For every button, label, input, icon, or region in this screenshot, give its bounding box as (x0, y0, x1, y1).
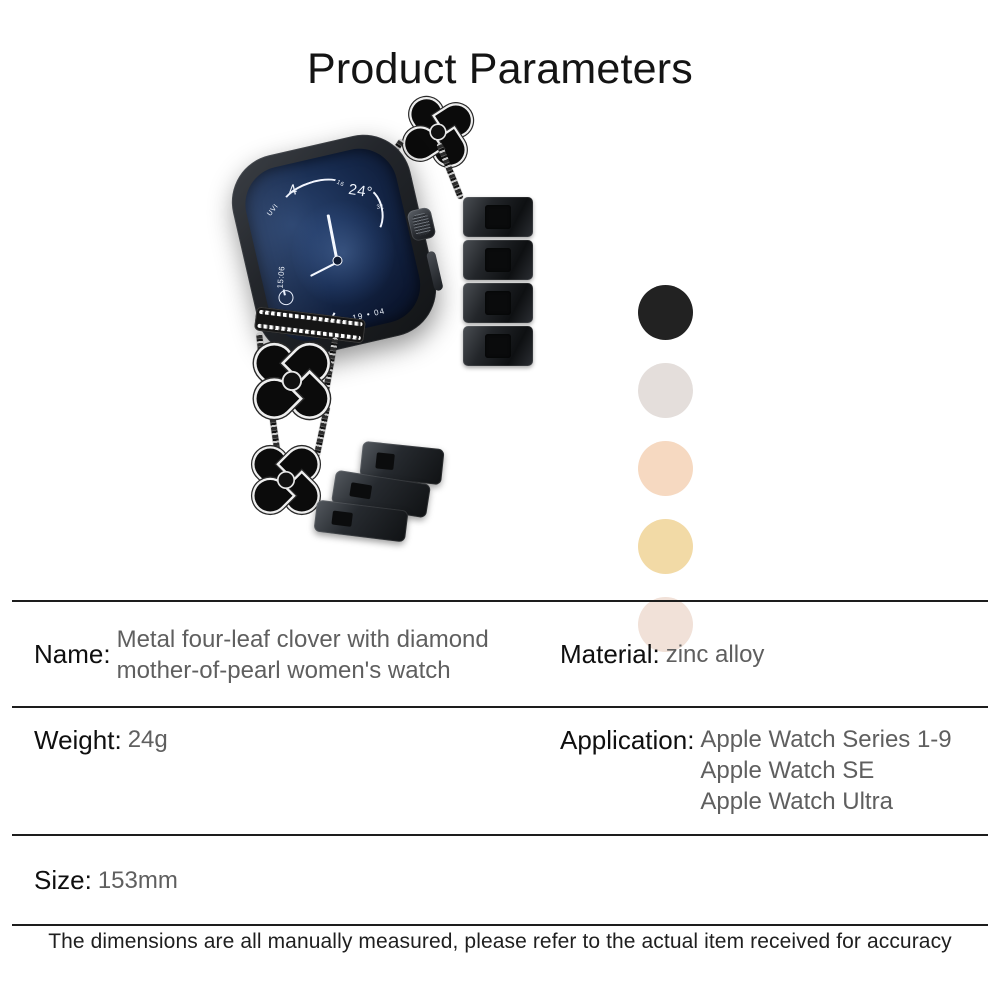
spec-label-material: Material: (560, 638, 660, 671)
temperature-max: 31 (376, 205, 384, 212)
clover-charm-lower (253, 448, 318, 513)
spec-value-line: Apple Watch SE (700, 755, 951, 786)
spec-label-weight: Weight: (34, 724, 122, 757)
spec-value-name: Metal four-leaf clover with diamond moth… (111, 624, 489, 686)
spec-table: Name: Metal four-leaf clover with diamon… (12, 600, 988, 926)
clover-charm-middle (255, 345, 342, 432)
product-hero: 4 UVI 16 24° 31 15:06 375 • 19 • 04 (0, 93, 1000, 563)
digital-crown (406, 207, 436, 243)
spec-cell-size: Size: 153mm (12, 836, 560, 924)
color-swatch-rose-gold[interactable] (638, 441, 693, 496)
temperature-min: 16 (335, 180, 345, 189)
spec-cell-application: Application: Apple Watch Series 1-9 Appl… (560, 708, 988, 834)
spec-label-application: Application: (560, 724, 694, 757)
spec-label-size: Size: (34, 864, 92, 897)
power-icon (277, 289, 295, 307)
bracelet-link (463, 197, 533, 237)
uvi-arc (277, 172, 349, 222)
spec-cell-weight: Weight: 24g (12, 708, 560, 834)
page-title: Product Parameters (0, 0, 1000, 93)
spec-value-size: 153mm (92, 865, 178, 896)
color-swatch-list (638, 285, 693, 652)
watch-time: 15:06 (276, 266, 287, 289)
spec-cell-material: Material: zinc alloy (560, 602, 988, 706)
spec-value-line: Apple Watch Series 1-9 (700, 724, 951, 755)
temperature-value: 24° (347, 181, 374, 202)
measurement-disclaimer: The dimensions are all manually measured… (0, 930, 1000, 954)
spec-value-weight: 24g (122, 724, 168, 755)
hour-hand (327, 215, 339, 263)
spec-value-line: zinc alloy (666, 639, 765, 670)
product-image: 4 UVI 16 24° 31 15:06 375 • 19 • 04 (215, 101, 575, 546)
color-swatch-silver-white[interactable] (638, 363, 693, 418)
table-row: Size: 153mm (12, 836, 988, 924)
bracelet-links (463, 197, 533, 369)
spec-value-line: mother-of-pearl women's watch (117, 655, 489, 686)
color-swatch-gold[interactable] (638, 519, 693, 574)
clover-charm-top (401, 96, 475, 170)
side-button (426, 251, 444, 292)
spec-value-line: 24g (128, 724, 168, 755)
bracelet-link (463, 326, 533, 366)
uvi-label: UVI (266, 203, 280, 218)
bracelet-link (463, 240, 533, 280)
spec-value-application: Apple Watch Series 1-9 Apple Watch SE Ap… (694, 724, 951, 818)
table-row: Weight: 24g Application: Apple Watch Ser… (12, 708, 988, 836)
spec-cell-name: Name: Metal four-leaf clover with diamon… (12, 602, 560, 706)
hands-center-cap (331, 255, 343, 267)
spec-value-line: Apple Watch Ultra (700, 786, 951, 817)
dial-glow (281, 190, 404, 316)
bracelet-link (463, 283, 533, 323)
spec-label-name: Name: (34, 638, 111, 671)
spec-cell-empty (560, 836, 988, 924)
minute-hand (310, 261, 340, 278)
spec-value-material: zinc alloy (660, 639, 765, 670)
uvi-value: 4 (287, 181, 299, 200)
spec-value-line: 153mm (98, 865, 178, 896)
table-row: Name: Metal four-leaf clover with diamon… (12, 602, 988, 708)
spec-value-line: Metal four-leaf clover with diamond (117, 624, 489, 655)
color-swatch-black[interactable] (638, 285, 693, 340)
